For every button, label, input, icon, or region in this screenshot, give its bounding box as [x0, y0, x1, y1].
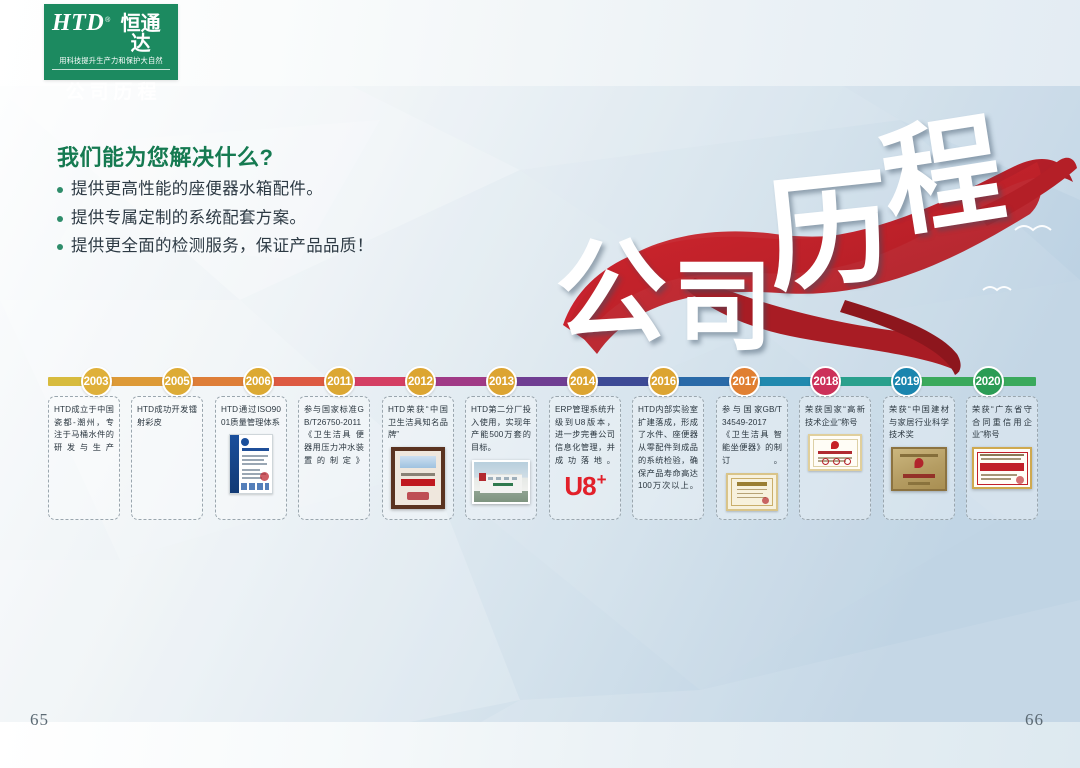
iso9001-certificate-image: [221, 434, 281, 494]
registered-mark-icon: ®: [105, 17, 110, 24]
card-description: 荣获国家“高新技术企业”称号: [805, 404, 865, 429]
card-description: 荣获“广东省守合同重信用企业”称号: [972, 404, 1032, 442]
list-item: 提供更全面的检测服务，保证产品品质！: [57, 236, 373, 257]
timeline-node-2012[interactable]: 2012: [405, 366, 436, 397]
logo-wordmark: HTD ® 恒通达: [52, 11, 170, 53]
card-2012[interactable]: HTD荣获“中国卫生洁具知名品牌”: [382, 396, 454, 520]
factory-building-photo: [471, 460, 531, 504]
timeline-axis: 2003200520062011201220132014201620172018…: [48, 366, 1036, 396]
bullet-dot-icon: [57, 216, 63, 222]
card-description: 参与国家标准GB/T26750-2011《卫生洁具 便器用压力冲水装置的制定》: [304, 404, 364, 468]
logo-chinese-text: 恒通达: [111, 13, 170, 53]
timeline-node-2017[interactable]: 2017: [729, 366, 760, 397]
science-technology-award-plaque-image: [889, 447, 949, 491]
timeline-year-label: 2019: [895, 376, 920, 388]
card-2017[interactable]: 参 与 国 家GB/T34549-2017《卫生洁具 智能坐便器》的制订。: [716, 396, 788, 520]
national-standard-certificate-image: [722, 473, 782, 511]
card-description: 荣获“中国建材与家居行业科学技术奖: [889, 404, 949, 442]
section-label: 公司历程: [60, 77, 161, 104]
timeline-node-2020[interactable]: 2020: [973, 366, 1004, 397]
card-description: HTD通过ISO9001质量管理体系: [221, 404, 281, 429]
bullet-text: 提供更全面的检测服务，保证产品品质！: [71, 236, 373, 257]
timeline-node-2018[interactable]: 2018: [810, 366, 841, 397]
card-description: HTD成立于中国瓷都-潮州，专注于马桶水件的研发与生产: [54, 404, 114, 455]
timeline-year-label: 2016: [651, 376, 676, 388]
seagull-icon: [943, 110, 1051, 290]
timeline-year-label: 2014: [570, 376, 595, 388]
logo-tagline: 用科技提升生产力和保护大自然: [54, 55, 167, 66]
page-canvas: HTD ® 恒通达 用科技提升生产力和保护大自然 公司历程 我们能为您解决什么?…: [0, 0, 1080, 768]
card-2013[interactable]: HTD第二分厂投入使用，实现年产能500万套的目标。: [465, 396, 537, 520]
bullet-dot-icon: [57, 244, 63, 250]
card-description: HTD内部实验室扩建落成，形成了水件、座便器从零配件到成品的系统检验，确保产品寿…: [638, 404, 698, 493]
timeline-node-2003[interactable]: 2003: [81, 366, 112, 397]
card-2006[interactable]: HTD通过ISO9001质量管理体系: [215, 396, 287, 520]
card-2005[interactable]: HTD成功开发镭射彩皮: [131, 396, 203, 520]
card-2018[interactable]: 荣获国家“高新技术企业”称号: [799, 396, 871, 520]
list-item: 提供更高性能的座便器水箱配件。: [57, 179, 373, 200]
bullet-text: 提供更高性能的座便器水箱配件。: [71, 179, 323, 200]
hi-tech-enterprise-certificate-image: [805, 434, 865, 471]
headline-title: 我们能为您解决什么?: [57, 146, 373, 170]
card-2016[interactable]: HTD内部实验室扩建落成，形成了水件、座便器从零配件到成品的系统检验，确保产品寿…: [632, 396, 704, 520]
bullet-text: 提供专属定制的系统配套方案。: [71, 208, 306, 229]
timeline-year-label: 2017: [732, 376, 757, 388]
timeline-year-label: 2012: [408, 376, 433, 388]
timeline-node-2016[interactable]: 2016: [648, 366, 679, 397]
artwork-char-3: 程: [874, 110, 1011, 247]
timeline-year-label: 2003: [84, 376, 109, 388]
headline-bullet-list: 提供更高性能的座便器水箱配件。 提供专属定制的系统配套方案。 提供更全面的检测服…: [57, 179, 373, 257]
red-ribbon-graphic: [545, 110, 1080, 375]
artwork-char-0: 公: [555, 238, 667, 350]
logo-brand-group: HTD ® 恒通达 用科技提升生产力和保护大自然: [52, 11, 170, 70]
artwork-char-1: 司: [673, 258, 773, 358]
card-description: ERP管理系统升级到U8版本，进一步完善公司信息化管理，并成功落地。: [555, 404, 615, 468]
timeline-year-label: 2006: [246, 376, 271, 388]
timeline-node-2006[interactable]: 2006: [243, 366, 274, 397]
timeline-cards: HTD成立于中国瓷都-潮州，专注于马桶水件的研发与生产HTD成功开发镭射彩皮HT…: [48, 396, 1038, 526]
company-logo: HTD ® 恒通达 用科技提升生产力和保护大自然 公司历程: [44, 4, 178, 80]
card-2003[interactable]: HTD成立于中国瓷都-潮州，专注于马桶水件的研发与生产: [48, 396, 120, 520]
card-2020[interactable]: 荣获“广东省守合同重信用企业”称号: [966, 396, 1038, 520]
artwork-char-2: 历: [761, 166, 897, 302]
brand-award-plaque-image: [388, 447, 448, 509]
card-description: HTD成功开发镭射彩皮: [137, 404, 197, 429]
ribbon-artwork: 公 司 历 程: [545, 110, 1080, 375]
timeline-node-2005[interactable]: 2005: [162, 366, 193, 397]
card-description: 参 与 国 家GB/T34549-2017《卫生洁具 智能坐便器》的制订。: [722, 404, 782, 468]
contract-credit-certificate-image: [972, 447, 1032, 489]
bullet-dot-icon: [57, 187, 63, 193]
u8-plus-logo: U8+: [555, 473, 615, 499]
timeline-year-label: 2011: [327, 376, 351, 388]
logo-latin-text: HTD: [52, 11, 104, 35]
timeline-node-2019[interactable]: 2019: [891, 366, 922, 397]
headline-block: 我们能为您解决什么? 提供更高性能的座便器水箱配件。 提供专属定制的系统配套方案…: [57, 146, 373, 265]
page-number-left: 65: [30, 710, 49, 730]
timeline-node-2013[interactable]: 2013: [486, 366, 517, 397]
card-description: HTD第二分厂投入使用，实现年产能500万套的目标。: [471, 404, 531, 455]
timeline-node-2011[interactable]: 2011: [324, 366, 355, 397]
card-description: HTD荣获“中国卫生洁具知名品牌”: [388, 404, 448, 442]
list-item: 提供专属定制的系统配套方案。: [57, 208, 373, 229]
timeline-year-label: 2018: [813, 376, 838, 388]
timeline-year-label: 2005: [165, 376, 190, 388]
page-number-right: 66: [1025, 710, 1044, 730]
bottom-strip: [0, 722, 1080, 768]
card-2011[interactable]: 参与国家标准GB/T26750-2011《卫生洁具 便器用压力冲水装置的制定》: [298, 396, 370, 520]
timeline-year-label: 2013: [489, 376, 514, 388]
card-2014[interactable]: ERP管理系统升级到U8版本，进一步完善公司信息化管理，并成功落地。U8+: [549, 396, 621, 520]
card-2019[interactable]: 荣获“中国建材与家居行业科学技术奖: [883, 396, 955, 520]
timeline-year-label: 2020: [976, 376, 1001, 388]
timeline-node-2014[interactable]: 2014: [567, 366, 598, 397]
